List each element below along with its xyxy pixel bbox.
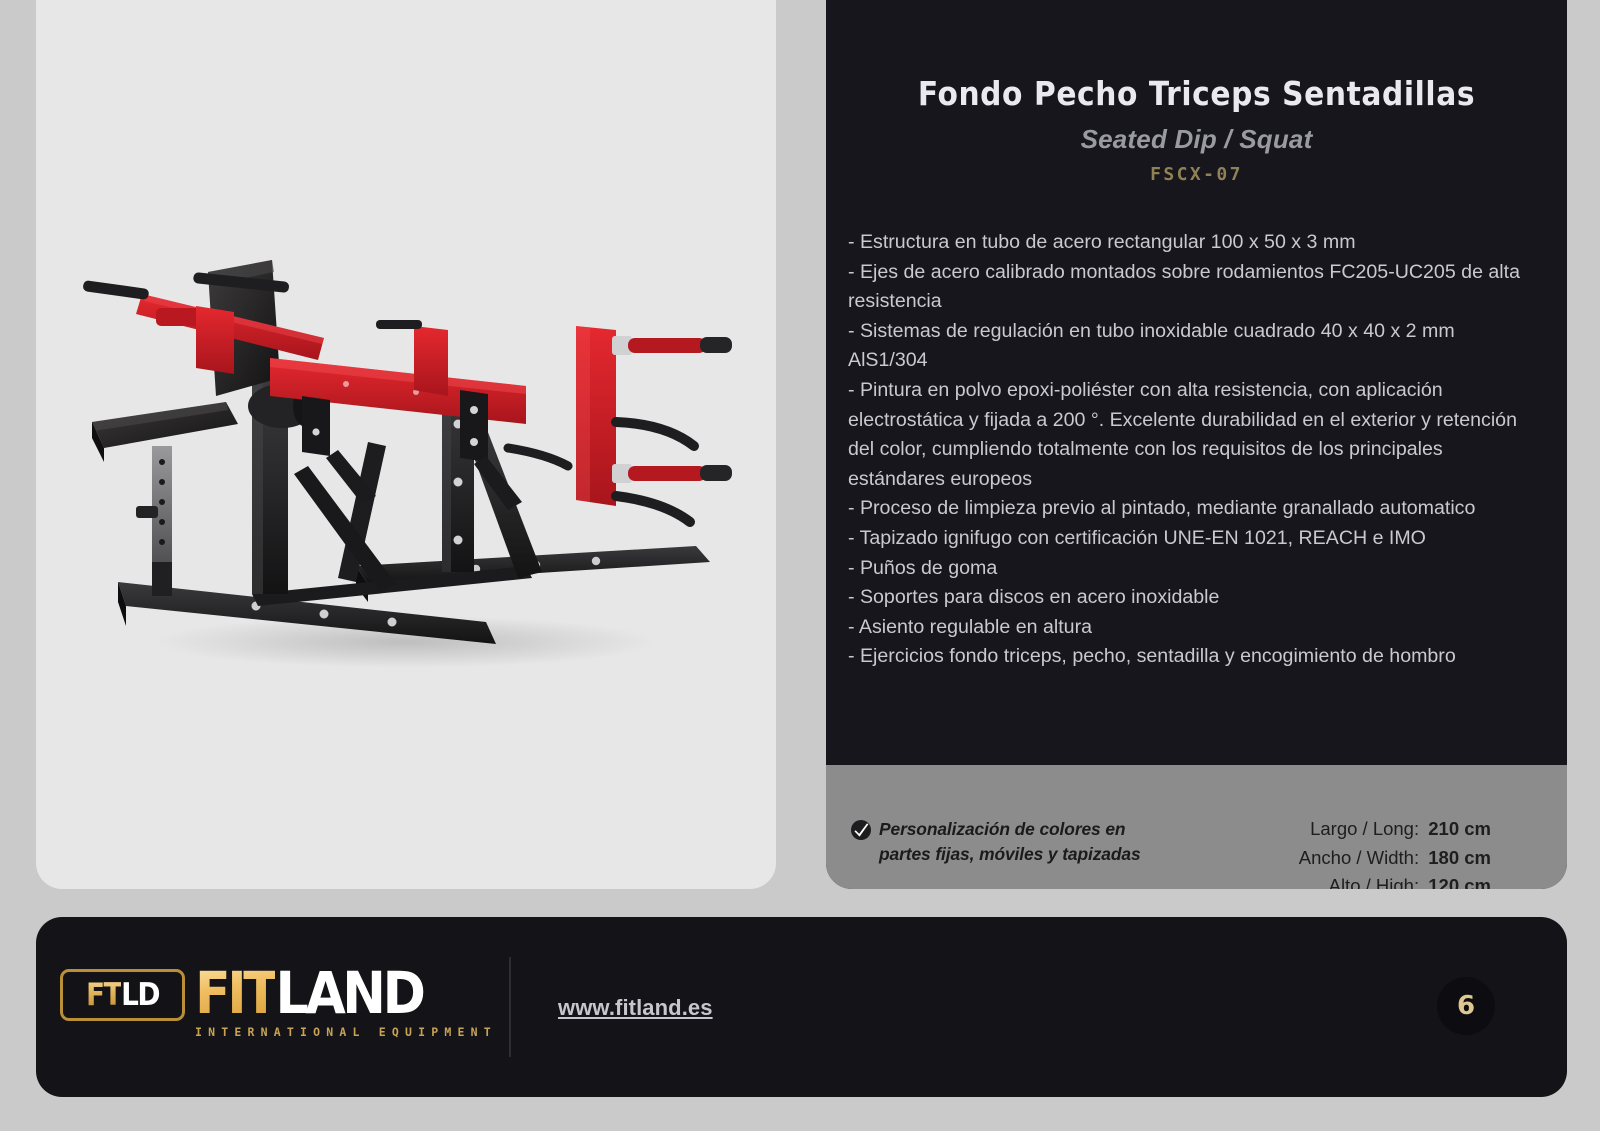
product-title-es: Fondo Pecho Triceps Sentadillas: [826, 74, 1567, 113]
dimension-label: Alto / High:: [1329, 875, 1420, 889]
feature-item: - Asiento regulable en altura: [848, 613, 1529, 643]
website-link[interactable]: www.fitland.es: [558, 995, 713, 1021]
dimension-label: Ancho / Width:: [1299, 847, 1419, 868]
brand-footer-bar: FTLD FITLAND INTERNATIONAL EQUIPMENT www…: [36, 917, 1567, 1097]
page-number-badge: 6: [1437, 977, 1495, 1035]
feature-item: - Sistemas de regulación en tubo inoxida…: [848, 317, 1529, 376]
dimension-value: 120 cm: [1428, 875, 1491, 889]
feature-item: - Tapizado ignifugo con certificación UN…: [848, 524, 1529, 554]
seated-dip-squat-machine-illustration: [56, 210, 756, 680]
feature-item: - Pintura en polvo epoxi-poliéster con a…: [848, 376, 1529, 494]
product-model-code: FSCX-07: [826, 164, 1567, 185]
feature-item: - Estructura en tubo de acero rectangula…: [848, 228, 1529, 258]
fitland-wordmark: FITLAND INTERNATIONAL EQUIPMENT: [195, 963, 497, 1039]
feature-item: - Ejercicios fondo triceps, pecho, senta…: [848, 642, 1529, 672]
brand-tagline: INTERNATIONAL EQUIPMENT: [195, 1025, 497, 1039]
product-image-panel: [36, 0, 776, 889]
feature-item: - Puños de goma: [848, 554, 1529, 584]
ftld-badge-gold-text: FT: [86, 977, 121, 1013]
catalog-page: Fondo Pecho Triceps Sentadillas Seated D…: [0, 0, 1600, 1131]
product-title-block: Fondo Pecho Triceps Sentadillas Seated D…: [826, 74, 1567, 185]
dimension-value: 210 cm: [1428, 818, 1491, 839]
ftld-badge-white-text: LD: [121, 977, 159, 1013]
feature-item: - Proceso de limpieza previo al pintado,…: [848, 494, 1529, 524]
dimension-row: Largo / Long: 210 cm: [1299, 815, 1491, 844]
dimension-row: Ancho / Width: 180 cm: [1299, 844, 1491, 873]
customization-text: Personalización de colores en partes fij…: [879, 817, 1141, 867]
spec-summary-bar: Personalización de colores en partes fij…: [826, 765, 1567, 889]
wordmark-fit: FIT: [195, 959, 275, 1027]
feature-item: - Soportes para discos en acero inoxidab…: [848, 583, 1529, 613]
customization-line-1: Personalización de colores en: [879, 819, 1125, 839]
dimensions-list: Largo / Long: 210 cm Ancho / Width: 180 …: [1299, 815, 1491, 889]
product-title-en: Seated Dip / Squat: [826, 124, 1567, 155]
feature-item: - Ejes de acero calibrado montados sobre…: [848, 258, 1529, 317]
specification-panel: Fondo Pecho Triceps Sentadillas Seated D…: [826, 0, 1567, 889]
check-circle-icon: [850, 819, 872, 846]
dimension-row: Alto / High: 120 cm: [1299, 872, 1491, 889]
customization-note: Personalización de colores en partes fij…: [850, 817, 1180, 867]
fitland-logo: FTLD FITLAND INTERNATIONAL EQUIPMENT: [60, 963, 497, 1039]
feature-list: - Estructura en tubo de acero rectangula…: [848, 228, 1529, 672]
spec-dark-area: Fondo Pecho Triceps Sentadillas Seated D…: [826, 0, 1567, 765]
ftld-badge-icon: FTLD: [60, 969, 185, 1021]
customization-line-2: partes fijas, móviles y tapizadas: [879, 844, 1141, 864]
footer-divider: [509, 957, 511, 1057]
dimension-label: Largo / Long:: [1310, 818, 1419, 839]
product-photo: [36, 0, 776, 889]
dimension-value: 180 cm: [1428, 847, 1491, 868]
wordmark-land: LAND: [275, 959, 422, 1027]
